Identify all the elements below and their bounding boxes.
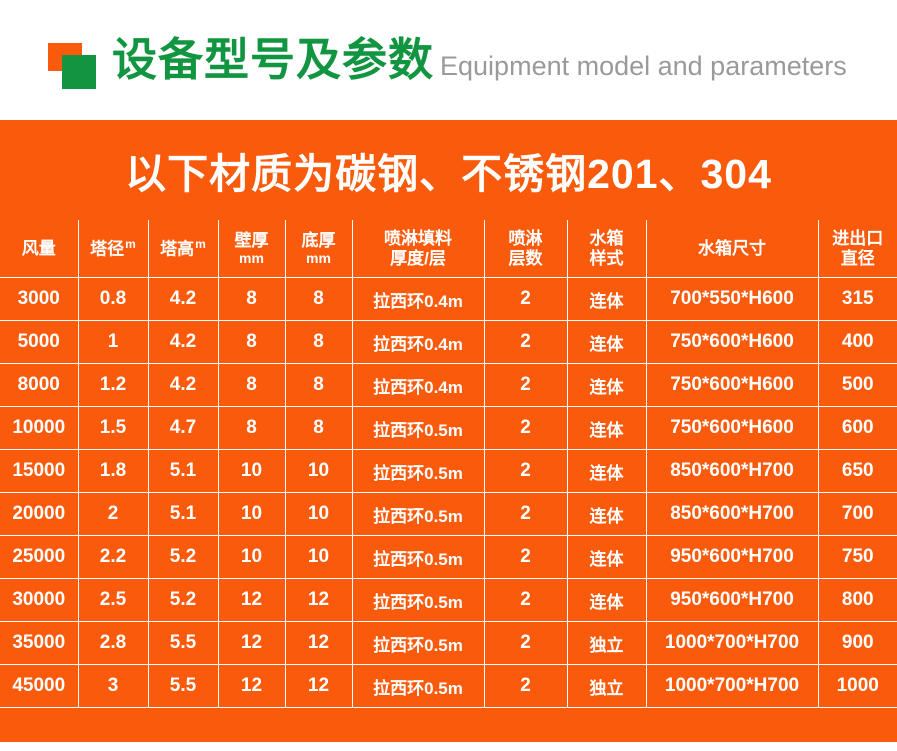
cell-height: 4.2 (148, 278, 218, 321)
cell-fill: 拉西环0.5m (352, 450, 484, 493)
table-header-row: 风量 塔径m 塔高m 壁厚mm 底厚mm 喷淋填料厚度/层 (0, 220, 897, 278)
cell-wall: 12 (218, 622, 285, 665)
table-row: 45000 3 5.5 12 12 拉西环0.5m 2 独立 1000*700*… (0, 665, 897, 708)
table-row: 5000 1 4.2 8 8 拉西环0.4m 2 连体 750*600*H600… (0, 321, 897, 364)
cell-wall: 10 (218, 536, 285, 579)
page-title-en: Equipment model and parameters (440, 53, 847, 80)
column-header-spray-fill: 喷淋填料厚度/层 (352, 220, 484, 278)
table-row: 35000 2.8 5.5 12 12 拉西环0.5m 2 独立 1000*70… (0, 622, 897, 665)
table-row: 20000 2 5.1 10 10 拉西环0.5m 2 连体 850*600*H… (0, 493, 897, 536)
cell-fill: 拉西环0.5m (352, 407, 484, 450)
column-header-tower-diameter: 塔径m (78, 220, 148, 278)
cell-layers: 2 (484, 364, 567, 407)
cell-diameter: 1 (78, 321, 148, 364)
cell-style: 连体 (567, 278, 646, 321)
cell-height: 5.1 (148, 450, 218, 493)
column-header-tank-size-label: 水箱尺寸 (698, 239, 766, 258)
cell-wall: 10 (218, 493, 285, 536)
cell-style: 连体 (567, 493, 646, 536)
cell-inout: 315 (818, 278, 897, 321)
header-inner: 设备型号及参数 Equipment model and parameters (48, 37, 847, 83)
cell-wall: 12 (218, 665, 285, 708)
cell-inout: 1000 (818, 665, 897, 708)
column-header-bottom-thickness: 底厚mm (285, 220, 352, 278)
table-header: 风量 塔径m 塔高m 壁厚mm 底厚mm 喷淋填料厚度/层 (0, 220, 897, 278)
cell-airflow: 3000 (0, 278, 78, 321)
cell-layers: 2 (484, 493, 567, 536)
column-header-wall-thickness: 壁厚mm (218, 220, 285, 278)
cell-diameter: 2.2 (78, 536, 148, 579)
cell-fill: 拉西环0.4m (352, 321, 484, 364)
cell-tank-size: 1000*700*H700 (646, 665, 818, 708)
cell-fill: 拉西环0.4m (352, 364, 484, 407)
cell-tank-size: 850*600*H700 (646, 450, 818, 493)
bottom-white-strip (0, 742, 897, 751)
cell-bottom: 8 (285, 278, 352, 321)
cell-tank-size: 950*600*H700 (646, 579, 818, 622)
cell-inout: 400 (818, 321, 897, 364)
table-row: 3000 0.8 4.2 8 8 拉西环0.4m 2 连体 700*550*H6… (0, 278, 897, 321)
cell-bottom: 10 (285, 450, 352, 493)
cell-diameter: 2 (78, 493, 148, 536)
cell-wall: 10 (218, 450, 285, 493)
table-row: 30000 2.5 5.2 12 12 拉西环0.5m 2 连体 950*600… (0, 579, 897, 622)
cell-airflow: 30000 (0, 579, 78, 622)
cell-layers: 2 (484, 665, 567, 708)
cell-airflow: 25000 (0, 536, 78, 579)
cell-tank-size: 750*600*H600 (646, 321, 818, 364)
cell-bottom: 8 (285, 364, 352, 407)
cell-style: 连体 (567, 364, 646, 407)
table-row: 8000 1.2 4.2 8 8 拉西环0.4m 2 连体 750*600*H6… (0, 364, 897, 407)
specification-table: 风量 塔径m 塔高m 壁厚mm 底厚mm 喷淋填料厚度/层 (0, 220, 897, 708)
cell-fill: 拉西环0.5m (352, 622, 484, 665)
cell-inout: 650 (818, 450, 897, 493)
cell-fill: 拉西环0.5m (352, 665, 484, 708)
cell-inout: 700 (818, 493, 897, 536)
cell-airflow: 35000 (0, 622, 78, 665)
cell-fill: 拉西环0.5m (352, 493, 484, 536)
column-header-spray-fill-label: 喷淋填料 (384, 229, 452, 248)
cell-airflow: 5000 (0, 321, 78, 364)
page-title-cn: 设备型号及参数 (112, 37, 434, 82)
cell-wall: 8 (218, 321, 285, 364)
table-row: 10000 1.5 4.7 8 8 拉西环0.5m 2 连体 750*600*H… (0, 407, 897, 450)
cell-style: 连体 (567, 579, 646, 622)
cell-airflow: 8000 (0, 364, 78, 407)
cell-wall: 8 (218, 407, 285, 450)
cell-inout: 600 (818, 407, 897, 450)
column-header-airflow: 风量 (0, 220, 78, 278)
column-header-tank-style-sub: 样式 (568, 249, 646, 269)
cell-style: 连体 (567, 450, 646, 493)
column-header-tower-height-label: 塔高 (160, 240, 194, 259)
cell-style: 独立 (567, 622, 646, 665)
cell-bottom: 12 (285, 665, 352, 708)
cell-airflow: 10000 (0, 407, 78, 450)
cell-height: 5.1 (148, 493, 218, 536)
cell-diameter: 0.8 (78, 278, 148, 321)
cell-inout: 500 (818, 364, 897, 407)
cell-tank-size: 1000*700*H700 (646, 622, 818, 665)
column-header-spray-fill-sub: 厚度/层 (353, 249, 484, 269)
material-banner: 以下材质为碳钢、不锈钢201、304 (0, 120, 897, 220)
cell-bottom: 10 (285, 536, 352, 579)
cell-fill: 拉西环0.5m (352, 536, 484, 579)
column-header-inout-diameter-sub: 直径 (819, 249, 897, 269)
cell-style: 连体 (567, 536, 646, 579)
cell-style: 连体 (567, 321, 646, 364)
cell-tank-size: 700*550*H600 (646, 278, 818, 321)
cell-tank-size: 750*600*H600 (646, 364, 818, 407)
table-row: 15000 1.8 5.1 10 10 拉西环0.5m 2 连体 850*600… (0, 450, 897, 493)
cell-wall: 12 (218, 579, 285, 622)
logo-square-green-icon (62, 55, 96, 89)
cell-tank-size: 950*600*H700 (646, 536, 818, 579)
column-header-wall-thickness-label: 壁厚 (235, 231, 269, 250)
cell-height: 4.7 (148, 407, 218, 450)
cell-height: 5.2 (148, 579, 218, 622)
cell-airflow: 20000 (0, 493, 78, 536)
cell-diameter: 3 (78, 665, 148, 708)
cell-height: 5.5 (148, 622, 218, 665)
cell-bottom: 8 (285, 321, 352, 364)
cell-bottom: 12 (285, 579, 352, 622)
cell-layers: 2 (484, 450, 567, 493)
cell-diameter: 1.8 (78, 450, 148, 493)
cell-airflow: 45000 (0, 665, 78, 708)
column-header-spray-layers-sub: 层数 (485, 249, 567, 269)
cell-layers: 2 (484, 278, 567, 321)
column-header-airflow-label: 风量 (22, 239, 56, 258)
cell-bottom: 12 (285, 622, 352, 665)
cell-height: 4.2 (148, 321, 218, 364)
column-header-tower-height: 塔高m (148, 220, 218, 278)
table-row: 25000 2.2 5.2 10 10 拉西环0.5m 2 连体 950*600… (0, 536, 897, 579)
column-header-bottom-thickness-label: 底厚 (302, 231, 336, 250)
column-header-tank-style-label: 水箱 (590, 229, 624, 248)
column-header-spray-layers: 喷淋层数 (484, 220, 567, 278)
cell-inout: 900 (818, 622, 897, 665)
cell-height: 5.2 (148, 536, 218, 579)
cell-height: 5.5 (148, 665, 218, 708)
column-header-wall-thickness-unit: mm (219, 250, 285, 266)
cell-inout: 750 (818, 536, 897, 579)
column-header-inout-diameter: 进出口直径 (818, 220, 897, 278)
logo-squares-icon (48, 43, 104, 89)
cell-wall: 8 (218, 364, 285, 407)
cell-fill: 拉西环0.5m (352, 579, 484, 622)
cell-layers: 2 (484, 622, 567, 665)
cell-bottom: 8 (285, 407, 352, 450)
cell-style: 连体 (567, 407, 646, 450)
section-header: 设备型号及参数 Equipment model and parameters (0, 0, 897, 120)
cell-tank-size: 750*600*H600 (646, 407, 818, 450)
cell-layers: 2 (484, 536, 567, 579)
cell-diameter: 2.8 (78, 622, 148, 665)
column-header-tower-height-unit: m (195, 237, 206, 251)
cell-fill: 拉西环0.4m (352, 278, 484, 321)
cell-style: 独立 (567, 665, 646, 708)
cell-wall: 8 (218, 278, 285, 321)
cell-diameter: 2.5 (78, 579, 148, 622)
spec-sheet-page: 设备型号及参数 Equipment model and parameters 以… (0, 0, 897, 751)
cell-layers: 2 (484, 321, 567, 364)
column-header-bottom-thickness-unit: mm (286, 250, 352, 266)
cell-layers: 2 (484, 407, 567, 450)
cell-airflow: 15000 (0, 450, 78, 493)
material-banner-text: 以下材质为碳钢、不锈钢201、304 (125, 140, 772, 200)
table-body: 3000 0.8 4.2 8 8 拉西环0.4m 2 连体 700*550*H6… (0, 278, 897, 708)
column-header-tank-size: 水箱尺寸 (646, 220, 818, 278)
cell-diameter: 1.2 (78, 364, 148, 407)
column-header-spray-layers-label: 喷淋 (509, 229, 543, 248)
cell-bottom: 10 (285, 493, 352, 536)
column-header-inout-diameter-label: 进出口 (832, 229, 883, 248)
column-header-tower-diameter-unit: m (125, 237, 136, 251)
cell-tank-size: 850*600*H700 (646, 493, 818, 536)
cell-height: 4.2 (148, 364, 218, 407)
column-header-tower-diameter-label: 塔径 (90, 240, 124, 259)
cell-diameter: 1.5 (78, 407, 148, 450)
orange-content-area: 以下材质为碳钢、不锈钢201、304 风量 (0, 120, 897, 742)
column-header-tank-style: 水箱样式 (567, 220, 646, 278)
cell-layers: 2 (484, 579, 567, 622)
cell-inout: 800 (818, 579, 897, 622)
